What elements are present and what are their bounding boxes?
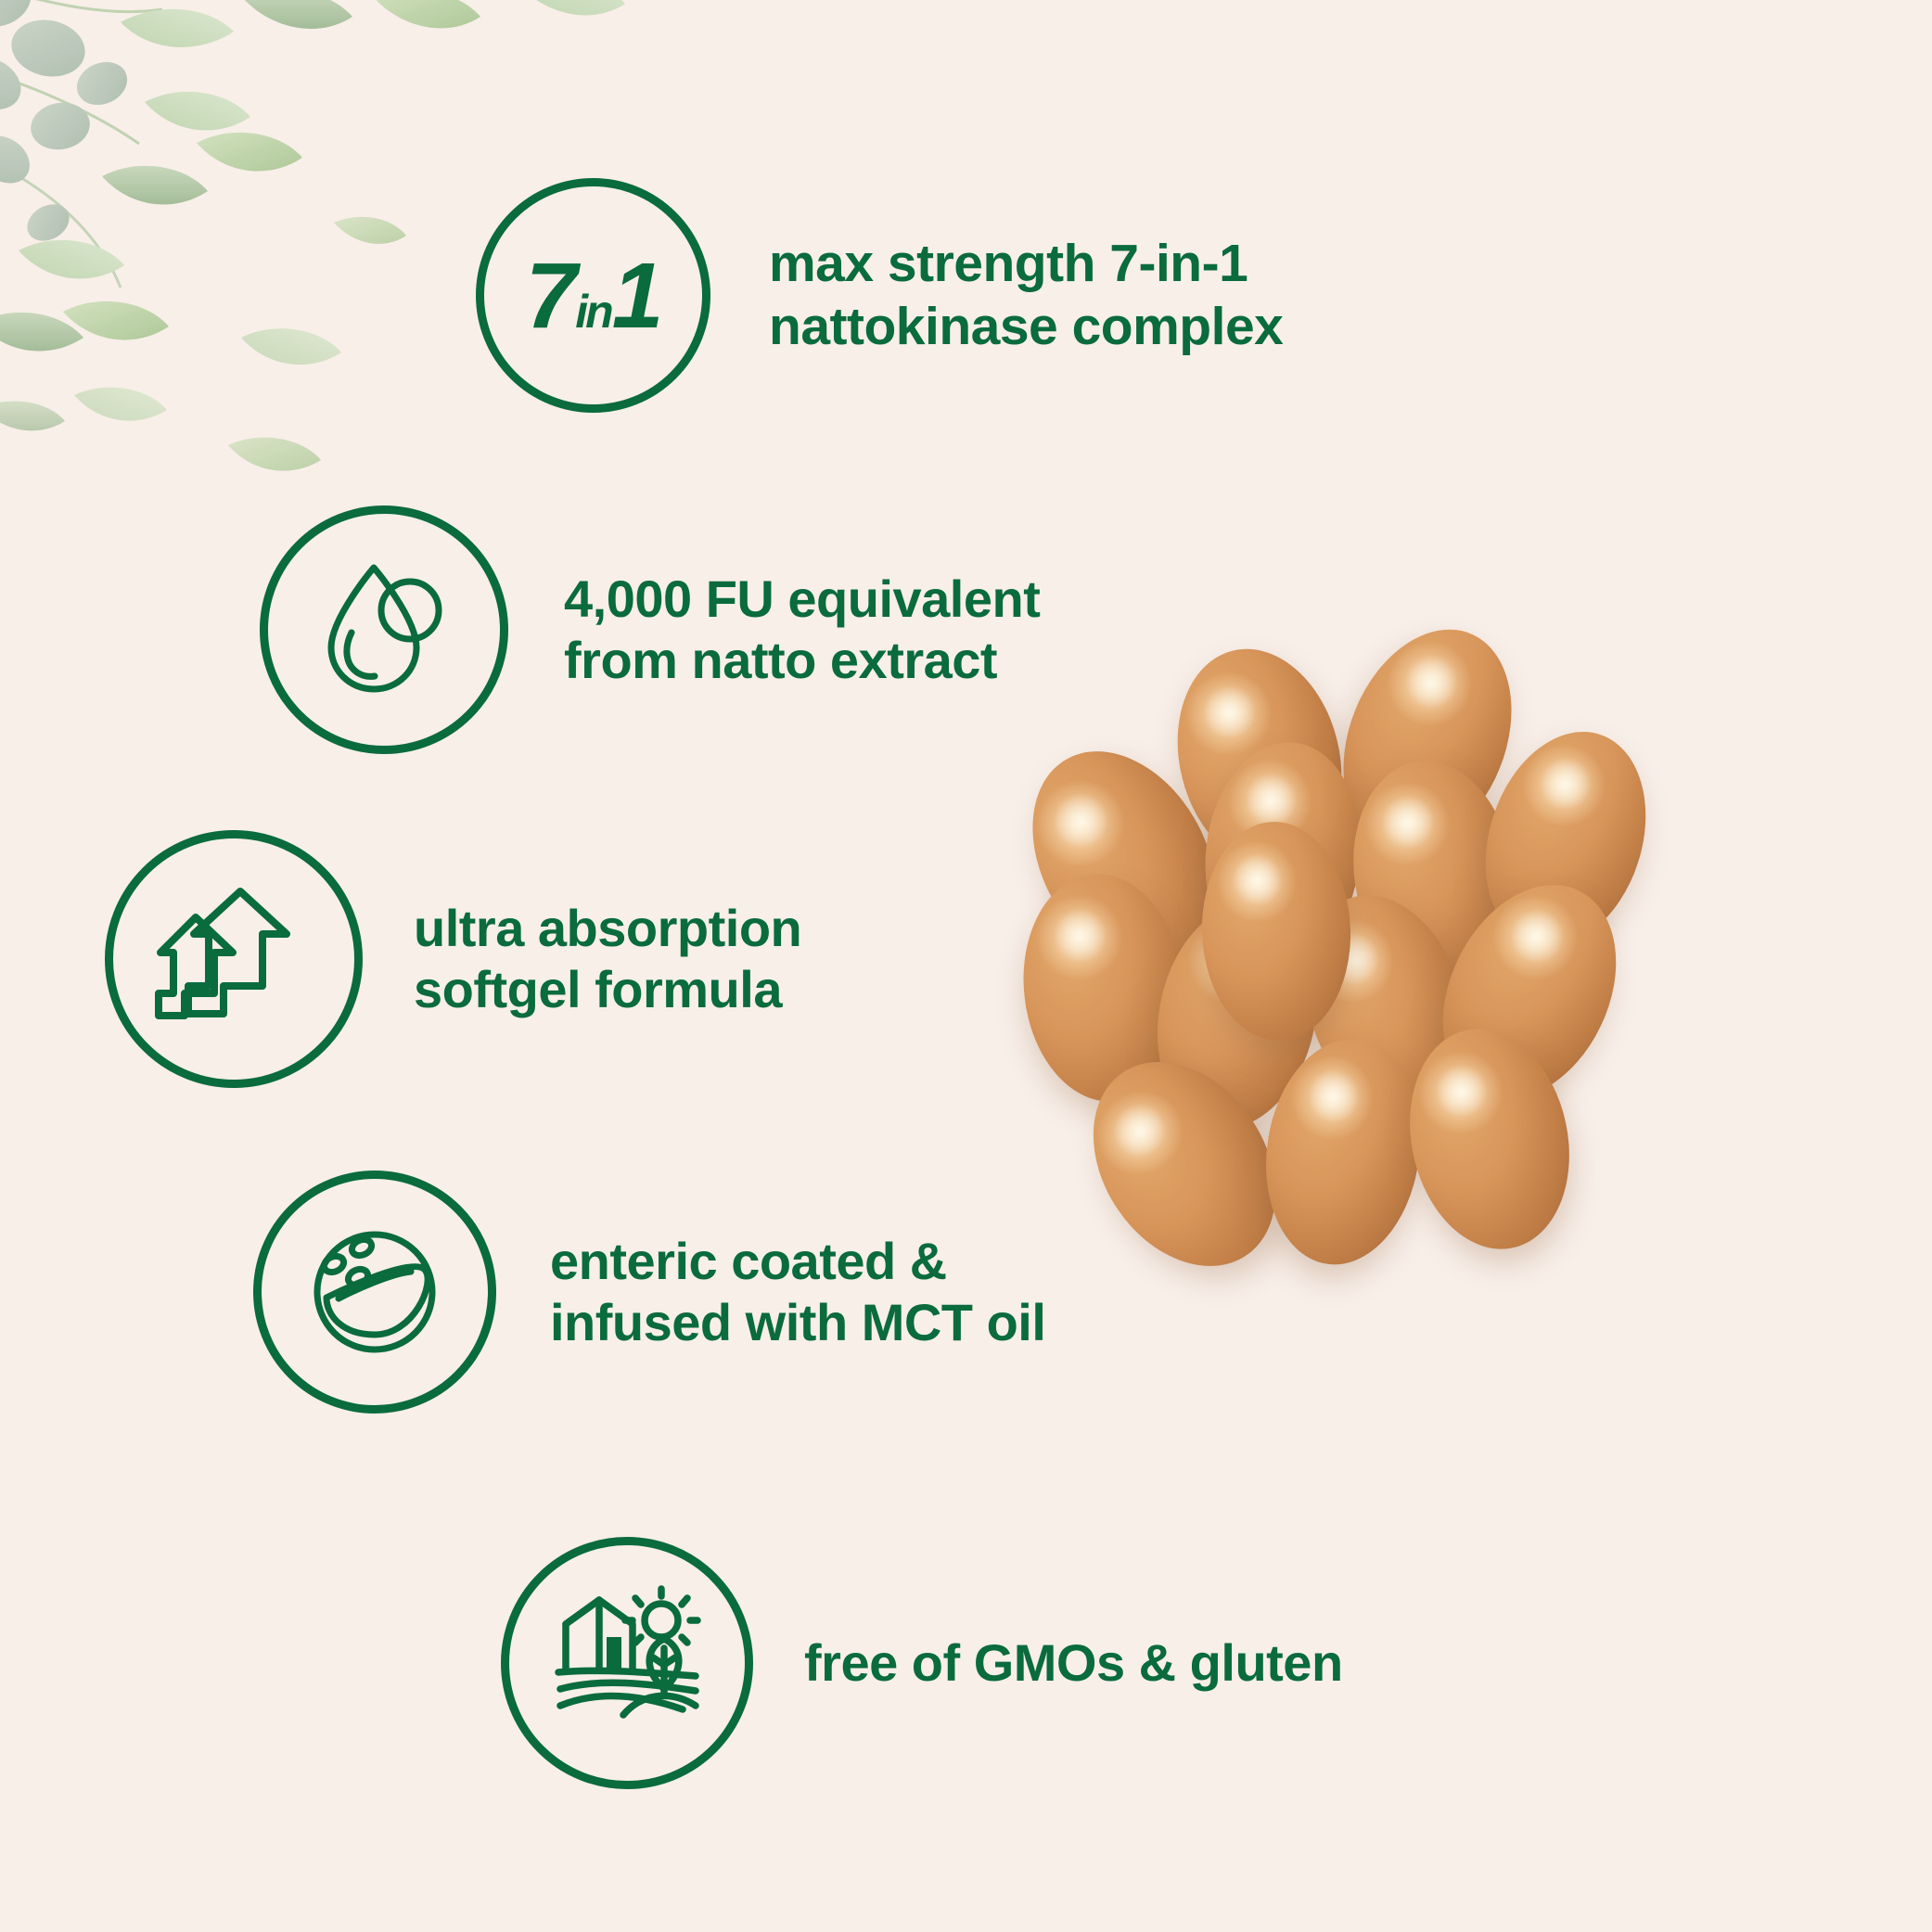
seven-in-one-text: 7in1: [526, 249, 661, 342]
feature-label-free-of-gmos: free of GMOs & gluten: [804, 1632, 1343, 1694]
arrows-badge: [105, 830, 363, 1088]
droplet-badge: [260, 505, 508, 754]
bean-bowl-badge: [253, 1171, 496, 1414]
feature-label-7-in-1: max strength 7-in-1 nattokinase complex: [769, 233, 1283, 358]
feature-label-enteric-coated: enteric coated & infused with MCT oil: [550, 1231, 1045, 1353]
droplet-icon: [305, 551, 463, 709]
feature-row-ultra-absorption: ultra absorption softgel formula: [105, 830, 801, 1088]
infographic-canvas: 7in1 max strength 7-in-1 nattokinase com…: [0, 0, 1932, 1932]
feature-row-fu-equivalent: 4,000 FU equivalent from natto extract: [260, 505, 1040, 754]
feature-row-enteric-coated: enteric coated & infused with MCT oil: [253, 1171, 1045, 1414]
badge-number-1: 1: [612, 249, 661, 342]
feature-row-7-in-1: 7in1 max strength 7-in-1 nattokinase com…: [476, 178, 1283, 413]
farm-sun-plant-icon: [544, 1580, 710, 1746]
seven-in-one-badge-icon: 7in1: [476, 178, 710, 413]
badge-word-in: in: [575, 288, 610, 335]
badge-number-7: 7: [526, 249, 575, 342]
softgel-capsule-cluster: [1048, 640, 1809, 1410]
feature-row-free-of-gmos: free of GMOs & gluten: [501, 1537, 1343, 1789]
feature-label-fu-equivalent: 4,000 FU equivalent from natto extract: [564, 569, 1040, 691]
ascending-arrows-icon: [151, 876, 316, 1042]
feature-label-ultra-absorption: ultra absorption softgel formula: [414, 898, 801, 1020]
farm-badge: [501, 1537, 753, 1789]
coated-bean-bowl-icon: [295, 1212, 454, 1372]
